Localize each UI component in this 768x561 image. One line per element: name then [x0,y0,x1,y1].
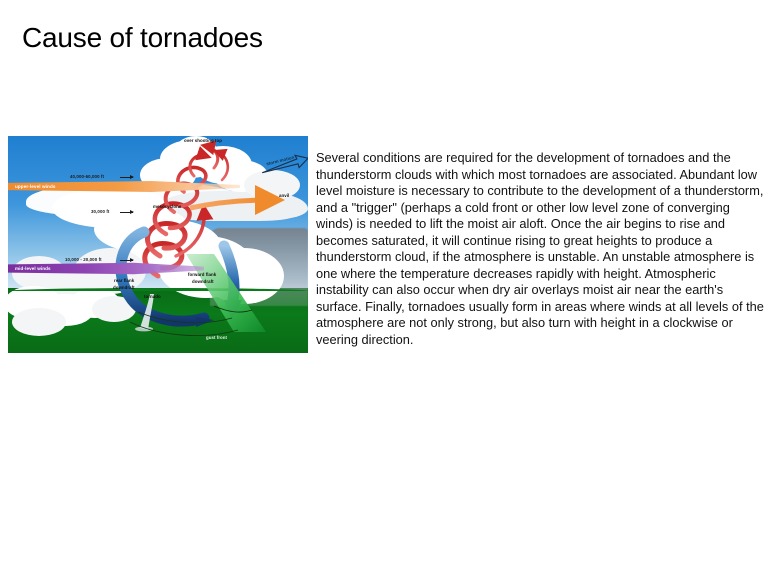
altitude-tick-mid [120,212,133,213]
forward-flank-downdraft-label-line1: forward flank [188,272,216,277]
page-title: Cause of tornadoes [22,20,263,56]
altitude-tick-low [120,260,133,261]
overshooting-top-label: over shooting top [184,138,222,143]
mid-level-winds-label: mid-level winds [15,266,51,271]
anvil-label: anvil [279,193,289,198]
rear-flank-downdraft-label-line1: rear flank [114,278,134,283]
altitude-label-mid: 30,000 ft [91,209,109,214]
rear-flank-downdraft-label-line2: downdraft [113,285,135,290]
tornado-label: tornado [144,294,161,299]
upper-level-winds-label: upper-level winds [15,184,56,189]
upper-level-winds-band: upper-level winds [8,180,240,193]
mid-level-winds-band: mid-level winds [8,262,204,275]
altitude-label-low: 10,000 - 20,000 ft [65,257,102,262]
slide-canvas: Cause of tornadoes [0,0,768,561]
altitude-label-high: 40,000-60,000 ft [70,174,104,179]
altitude-tick-high [120,177,133,178]
forward-flank-downdraft-label-line2: downdraft [192,279,214,284]
mesocyclone-label: mesocyclone [153,204,181,209]
body-paragraph: Several conditions are required for the … [316,150,766,348]
supercell-diagram-image: upper-level winds mid-level winds 40,000… [8,136,308,353]
gust-front-label: gust front [206,335,227,340]
